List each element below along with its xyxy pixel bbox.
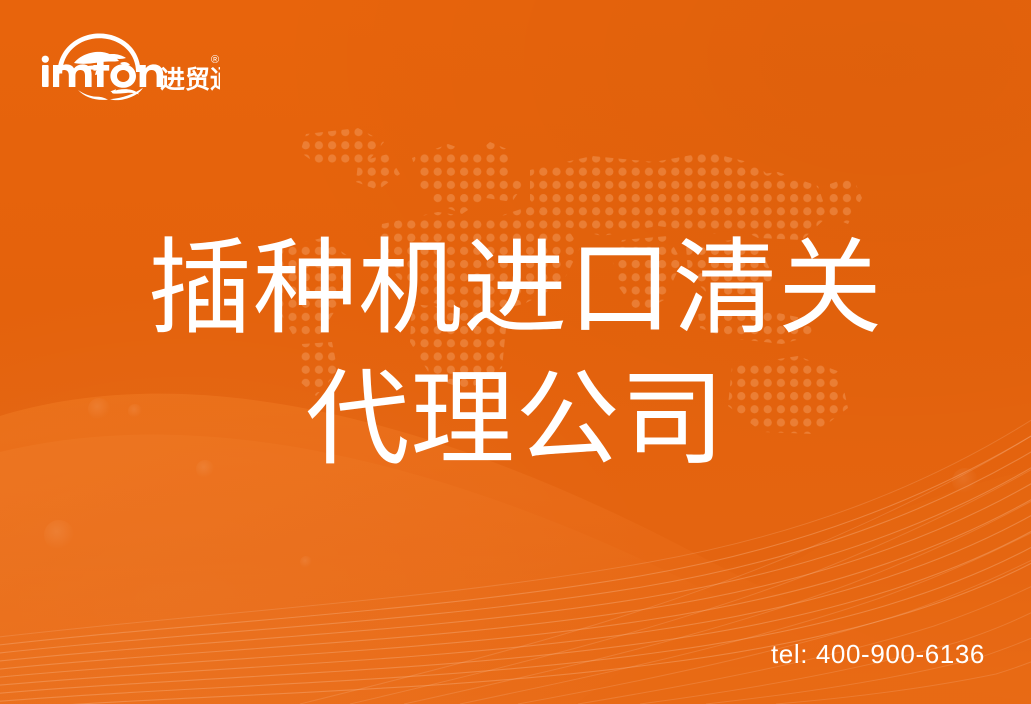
page-title-line-2: 代理公司 bbox=[0, 355, 1031, 486]
bokeh-circle-1 bbox=[44, 520, 74, 550]
poster-canvas: 进贸通 ® 插种机进口清关 代理公司 tel: 400-900-6136 bbox=[0, 0, 1031, 704]
page-title-line-1: 插种机进口清关 bbox=[0, 224, 1031, 355]
logo-chinese-name: 进贸通 bbox=[160, 66, 220, 94]
bokeh-circle-6 bbox=[300, 556, 312, 568]
contact-phone[interactable]: tel: 400-900-6136 bbox=[771, 639, 985, 670]
imton-logo[interactable]: 进贸通 ® bbox=[40, 27, 220, 101]
page-title: 插种机进口清关 代理公司 bbox=[0, 224, 1031, 486]
logo-trademark-symbol: ® bbox=[211, 54, 219, 66]
